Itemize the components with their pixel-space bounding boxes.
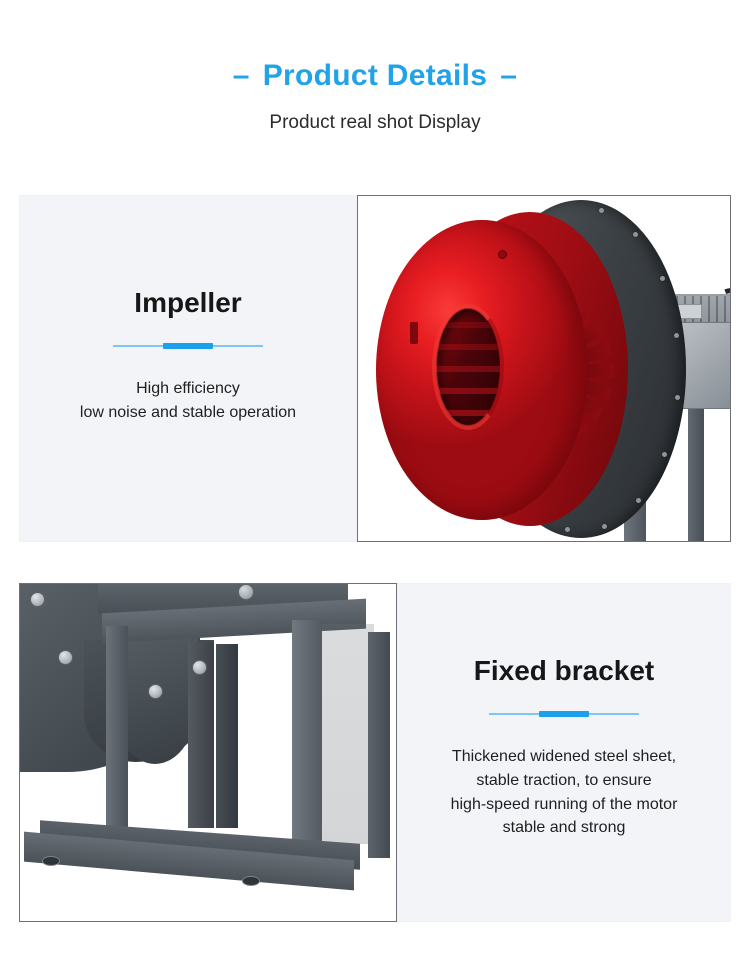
page-title: –Product Details– xyxy=(0,58,750,94)
bracket-post-left xyxy=(106,626,128,858)
bracket-description-line-3: high-speed running of the motor xyxy=(451,793,678,817)
bracket-divider xyxy=(489,709,639,719)
impeller-heading: Impeller xyxy=(134,287,241,319)
bracket-text-panel: Fixed bracket Thickened widened steel sh… xyxy=(397,583,731,922)
title-dash-left: – xyxy=(233,58,250,94)
divider-bar xyxy=(539,711,589,717)
impeller-divider xyxy=(113,341,263,351)
page-subtitle: Product real shot Display xyxy=(0,112,750,134)
impeller-image-panel xyxy=(357,195,731,542)
section-fixed-bracket: Fixed bracket Thickened widened steel sh… xyxy=(19,583,731,922)
bracket-image-panel xyxy=(19,583,397,922)
impeller-inlet-lip xyxy=(432,304,504,430)
bracket-side-panel xyxy=(320,624,374,844)
divider-bar xyxy=(163,343,213,349)
bracket-bolt-2 xyxy=(58,650,73,665)
impeller-screw xyxy=(498,250,507,259)
impeller-tab xyxy=(410,322,418,344)
bracket-top-bolt xyxy=(238,584,254,600)
bracket-mounting-hole-left xyxy=(42,856,60,866)
impeller-text-panel: Impeller High efficiency low noise and s… xyxy=(19,195,357,542)
page-header: –Product Details– Product real shot Disp… xyxy=(0,0,750,134)
impeller-description-line-2: low noise and stable operation xyxy=(80,401,296,425)
bracket-heading: Fixed bracket xyxy=(474,655,655,687)
impeller-description-line-1: High efficiency xyxy=(80,377,296,401)
bracket-post-mid-right xyxy=(216,644,238,828)
bracket-photo xyxy=(20,584,396,921)
bracket-post-right xyxy=(292,620,322,874)
bracket-description-line-4: stable and strong xyxy=(451,816,678,840)
bracket-description-line-1: Thickened widened steel sheet, xyxy=(451,745,678,769)
bracket-mounting-hole-right xyxy=(242,876,260,886)
impeller-description: High efficiency low noise and stable ope… xyxy=(80,377,296,424)
bracket-bolt-3 xyxy=(192,660,207,675)
section-impeller: Impeller High efficiency low noise and s… xyxy=(19,195,731,542)
bracket-description-line-2: stable traction, to ensure xyxy=(451,769,678,793)
bracket-bolt-1 xyxy=(30,592,45,607)
title-text: Product Details xyxy=(263,59,488,92)
impeller-photo xyxy=(358,196,730,541)
bracket-description: Thickened widened steel sheet, stable tr… xyxy=(451,745,678,840)
bracket-bolt-4 xyxy=(148,684,163,699)
title-dash-right: – xyxy=(500,58,517,94)
frame-leg-right xyxy=(688,392,704,542)
bracket-post-far-right xyxy=(368,632,390,858)
